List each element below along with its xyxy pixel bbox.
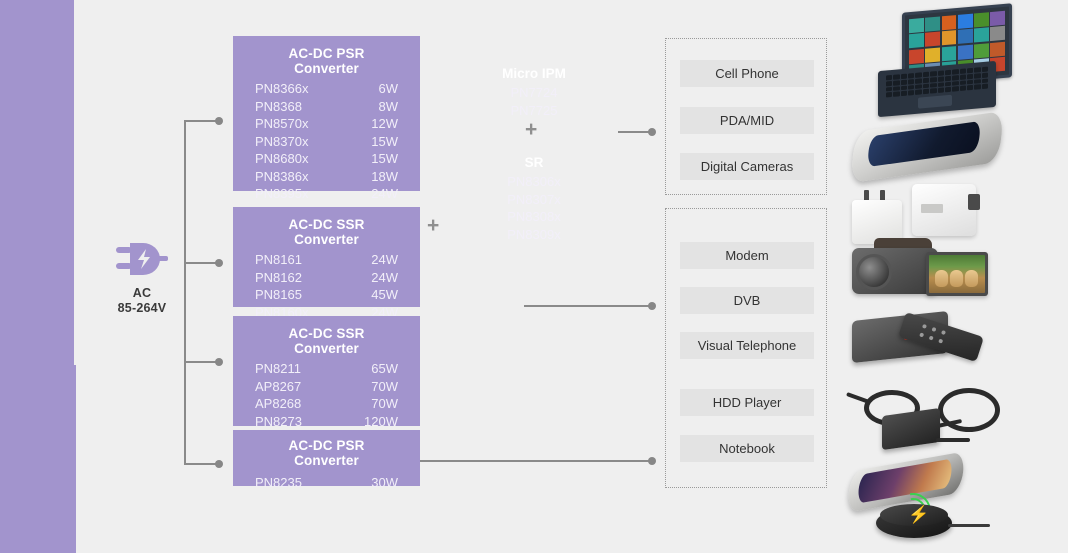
block-ac-dc-psr-converter-2: AC-DC PSR Converter PN8235 30W [233, 430, 420, 486]
part-power: 70W [371, 395, 398, 413]
product-image-column: ⚡ [838, 0, 1068, 547]
part-row: PN8273 120W [255, 413, 398, 431]
usb-wall-charger-b-image [912, 184, 976, 236]
part-number: AP8267 [255, 378, 301, 396]
branch-dot-3 [215, 358, 223, 366]
block-title: AC-DC SSR Converter [255, 326, 398, 356]
part-number: PN8211 [255, 360, 301, 378]
part-number: AP8268 [255, 395, 301, 413]
ac-source: AC 85-264V [100, 238, 184, 316]
application-group-2: Modem DVB Visual Telephone HDD Player No… [665, 208, 827, 488]
usb-wall-charger-a-image [852, 190, 906, 244]
block-micro-ipm: Micro IPM PN7724 PN7725 [0, 365, 76, 553]
psr2-to-group2-line [420, 460, 654, 462]
part-row: AP8268 70W [255, 395, 398, 413]
sr-to-group2-dot [648, 302, 656, 310]
application-group-1: Cell Phone PDA/MID Digital Cameras [665, 38, 827, 195]
ipm-to-group1-dot [648, 128, 656, 136]
part-number: PN8162 [255, 269, 302, 287]
sr-to-group2-line [524, 305, 654, 307]
set-top-box-image [852, 308, 1002, 368]
ac-label-line1: AC [100, 286, 184, 301]
ac-source-label: AC 85-264V [100, 286, 184, 316]
app-item-dvb[interactable]: DVB [680, 287, 814, 314]
app-item-cell-phone[interactable]: Cell Phone [680, 60, 814, 87]
laptop-power-adapter-image [846, 382, 1014, 460]
psr2-to-group2-dot [648, 457, 656, 465]
part-number: PN8370x [255, 133, 308, 151]
part-row: PN8162 24W [255, 269, 398, 287]
app-item-pda-mid[interactable]: PDA/MID [680, 107, 814, 134]
laptop-keyboard-icon [878, 61, 996, 117]
part-row: PN8211 65W [255, 360, 398, 378]
part-power: 45W [371, 286, 398, 304]
part-row: PN8161 24W [255, 251, 398, 269]
smartphone-image [852, 122, 1002, 172]
wireless-charging-phone-image: ⚡ [848, 462, 1018, 542]
app-item-digital-cameras[interactable]: Digital Cameras [680, 153, 814, 180]
block-sr: SR PN8306x PN8307x PN8308x PN8309x [0, 0, 74, 365]
block-ac-dc-ssr-converter-2: AC-DC SSR Converter PN8211 65W AP8267 70… [233, 316, 420, 426]
part-power: 120W [364, 413, 398, 431]
power-plug-icon [100, 238, 184, 280]
plus-operator-2: + [525, 119, 537, 140]
part-number: PN8165 [255, 286, 302, 304]
part-power: 70W [371, 378, 398, 396]
diagram-canvas: AC 85-264V AC-DC PSR Converter PN8366x 6… [0, 0, 1068, 547]
app-item-notebook[interactable]: Notebook [680, 435, 814, 462]
app-item-modem[interactable]: Modem [680, 242, 814, 269]
part-power: 24W [371, 251, 398, 269]
part-power: 65W [371, 360, 398, 378]
part-power: 30W [371, 474, 398, 492]
app-item-visual-telephone[interactable]: Visual Telephone [680, 332, 814, 359]
part-row: AP8267 70W [255, 378, 398, 396]
part-row: PN8165 45W [255, 286, 398, 304]
part-power: 15W [371, 133, 398, 151]
laptop-tablet-hybrid-image [858, 8, 1018, 120]
branch-dot-2 [215, 259, 223, 267]
charging-bolt-icon: ⚡ [908, 506, 929, 523]
part-row: PN8235 30W [255, 474, 398, 492]
block-title: AC-DC PSR Converter [255, 438, 398, 468]
part-row: PN8370x 15W [255, 133, 398, 151]
part-power: 24W [371, 269, 398, 287]
part-number: PN8235 [255, 474, 302, 492]
part-number: PN8161 [255, 251, 302, 269]
branch-dot-4 [215, 460, 223, 468]
app-item-hdd-player[interactable]: HDD Player [680, 389, 814, 416]
ac-label-line2: 85-264V [100, 301, 184, 316]
camcorder-image [852, 238, 1002, 296]
part-number: PN8273 [255, 413, 302, 431]
